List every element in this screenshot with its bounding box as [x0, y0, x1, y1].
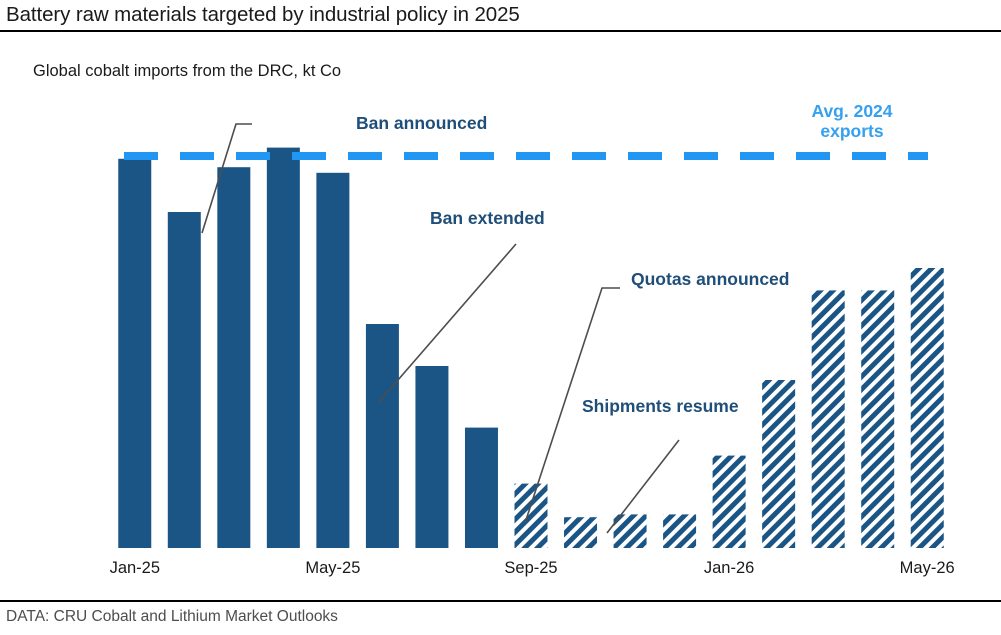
bar-jan-25	[118, 159, 151, 548]
annotation-shipments-resume: Shipments resume	[582, 396, 739, 416]
annotation-avg-2024-exports: Avg. 2024 exports	[787, 101, 917, 142]
x-tick-may-26: May-26	[867, 559, 987, 578]
x-tick-may-25: May-25	[273, 559, 393, 578]
bar-apr-25	[267, 148, 300, 548]
bar-feb-26	[762, 380, 795, 548]
bar-jun-25	[366, 324, 399, 548]
footer-divider	[0, 600, 1001, 602]
bar-sep-25	[515, 484, 548, 548]
chart-page: Battery raw materials targeted by indust…	[0, 0, 1001, 635]
chart-svg	[0, 0, 1001, 600]
bar-mar-26	[812, 290, 845, 548]
bar-aug-25	[465, 428, 498, 548]
annotation-ban-announced: Ban announced	[356, 113, 487, 133]
x-tick-jan-25: Jan-25	[75, 559, 195, 578]
bar-mar-25	[217, 167, 250, 548]
chart-plot-area	[0, 0, 1001, 600]
annotation-avg-2024-exports-line2: exports	[787, 121, 917, 141]
bar-dec-25	[663, 514, 696, 548]
bar-jul-25	[415, 366, 448, 548]
bar-apr-26	[861, 290, 894, 548]
bar-may-25	[316, 173, 349, 548]
annotation-quotas-announced: Quotas announced	[631, 269, 789, 289]
bar-feb-25	[168, 212, 201, 548]
bar-oct-25	[564, 517, 597, 548]
bar-may-26	[911, 268, 944, 548]
data-source-note: DATA: CRU Cobalt and Lithium Market Outl…	[6, 608, 338, 626]
annotation-avg-2024-exports-line1: Avg. 2024	[787, 101, 917, 121]
x-tick-jan-26: Jan-26	[669, 559, 789, 578]
annotation-ban-extended: Ban extended	[430, 208, 545, 228]
bar-nov-25	[614, 514, 647, 548]
bar-jan-26	[713, 456, 746, 548]
x-tick-sep-25: Sep-25	[471, 559, 591, 578]
